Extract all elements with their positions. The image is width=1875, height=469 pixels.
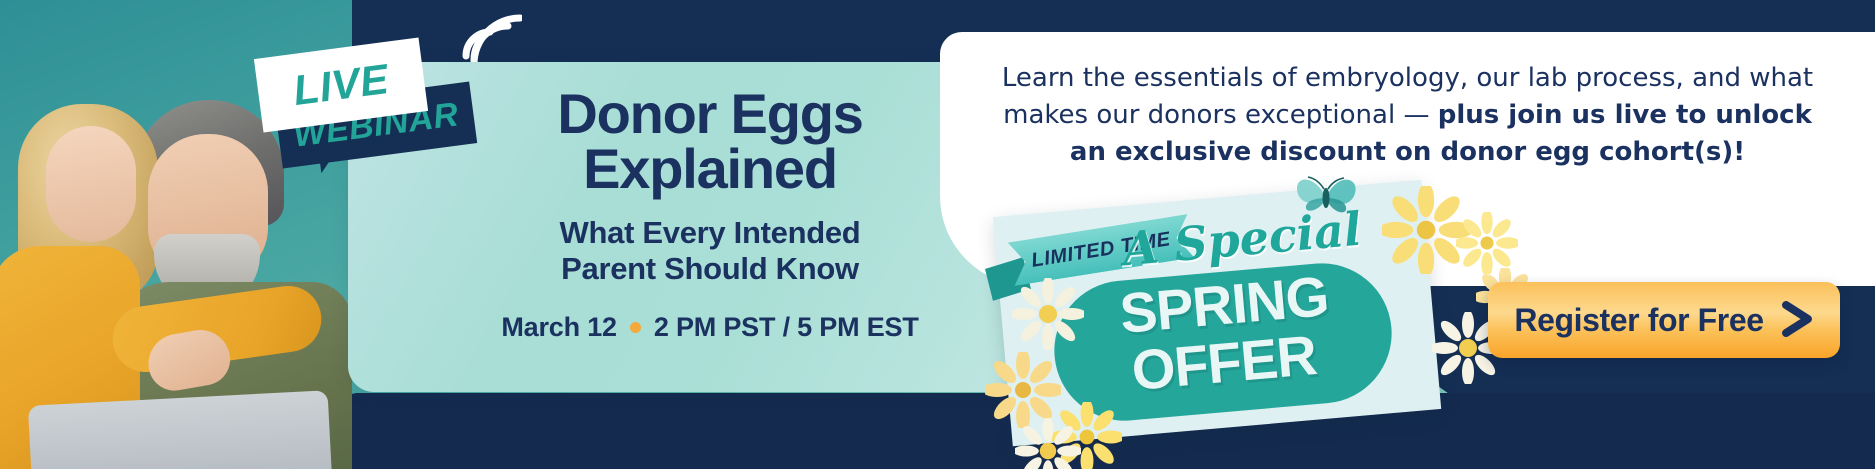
photo-woman-face: [46, 126, 136, 242]
subtitle-line-1: What Every Intended: [430, 215, 990, 252]
chevron-right-icon: [1778, 299, 1814, 342]
subtitle-line-2: Parent Should Know: [430, 251, 990, 288]
headline-line-2: Explained: [430, 141, 990, 196]
callout-text: Learn the essentials of embryology, our …: [984, 60, 1831, 171]
daisy-flower-icon: [1015, 418, 1081, 469]
event-date: March 12: [501, 312, 616, 343]
yellow-flower-icon: [985, 352, 1061, 428]
event-time: 2 PM PST / 5 PM EST: [654, 312, 919, 343]
register-for-free-button[interactable]: Register for Free: [1488, 282, 1840, 358]
headline-block: Donor Eggs Explained What Every Intended…: [430, 86, 990, 343]
webinar-promo-banner: Donor Eggs Explained What Every Intended…: [0, 0, 1875, 469]
register-button-label: Register for Free: [1514, 302, 1763, 339]
daisy-flower-icon: [1012, 278, 1084, 350]
live-label: LIVE: [291, 55, 392, 115]
event-datetime: March 12 2 PM PST / 5 PM EST: [430, 312, 990, 343]
headline-line-1: Donor Eggs: [430, 86, 990, 141]
live-webinar-badge: WEBINAR LIVE: [258, 48, 478, 178]
page-title: Donor Eggs Explained: [430, 86, 990, 197]
yellow-flower-icon: [1456, 212, 1518, 274]
headline-subtitle: What Every Intended Parent Should Know: [430, 215, 990, 288]
bullet-dot-icon: [630, 322, 641, 333]
